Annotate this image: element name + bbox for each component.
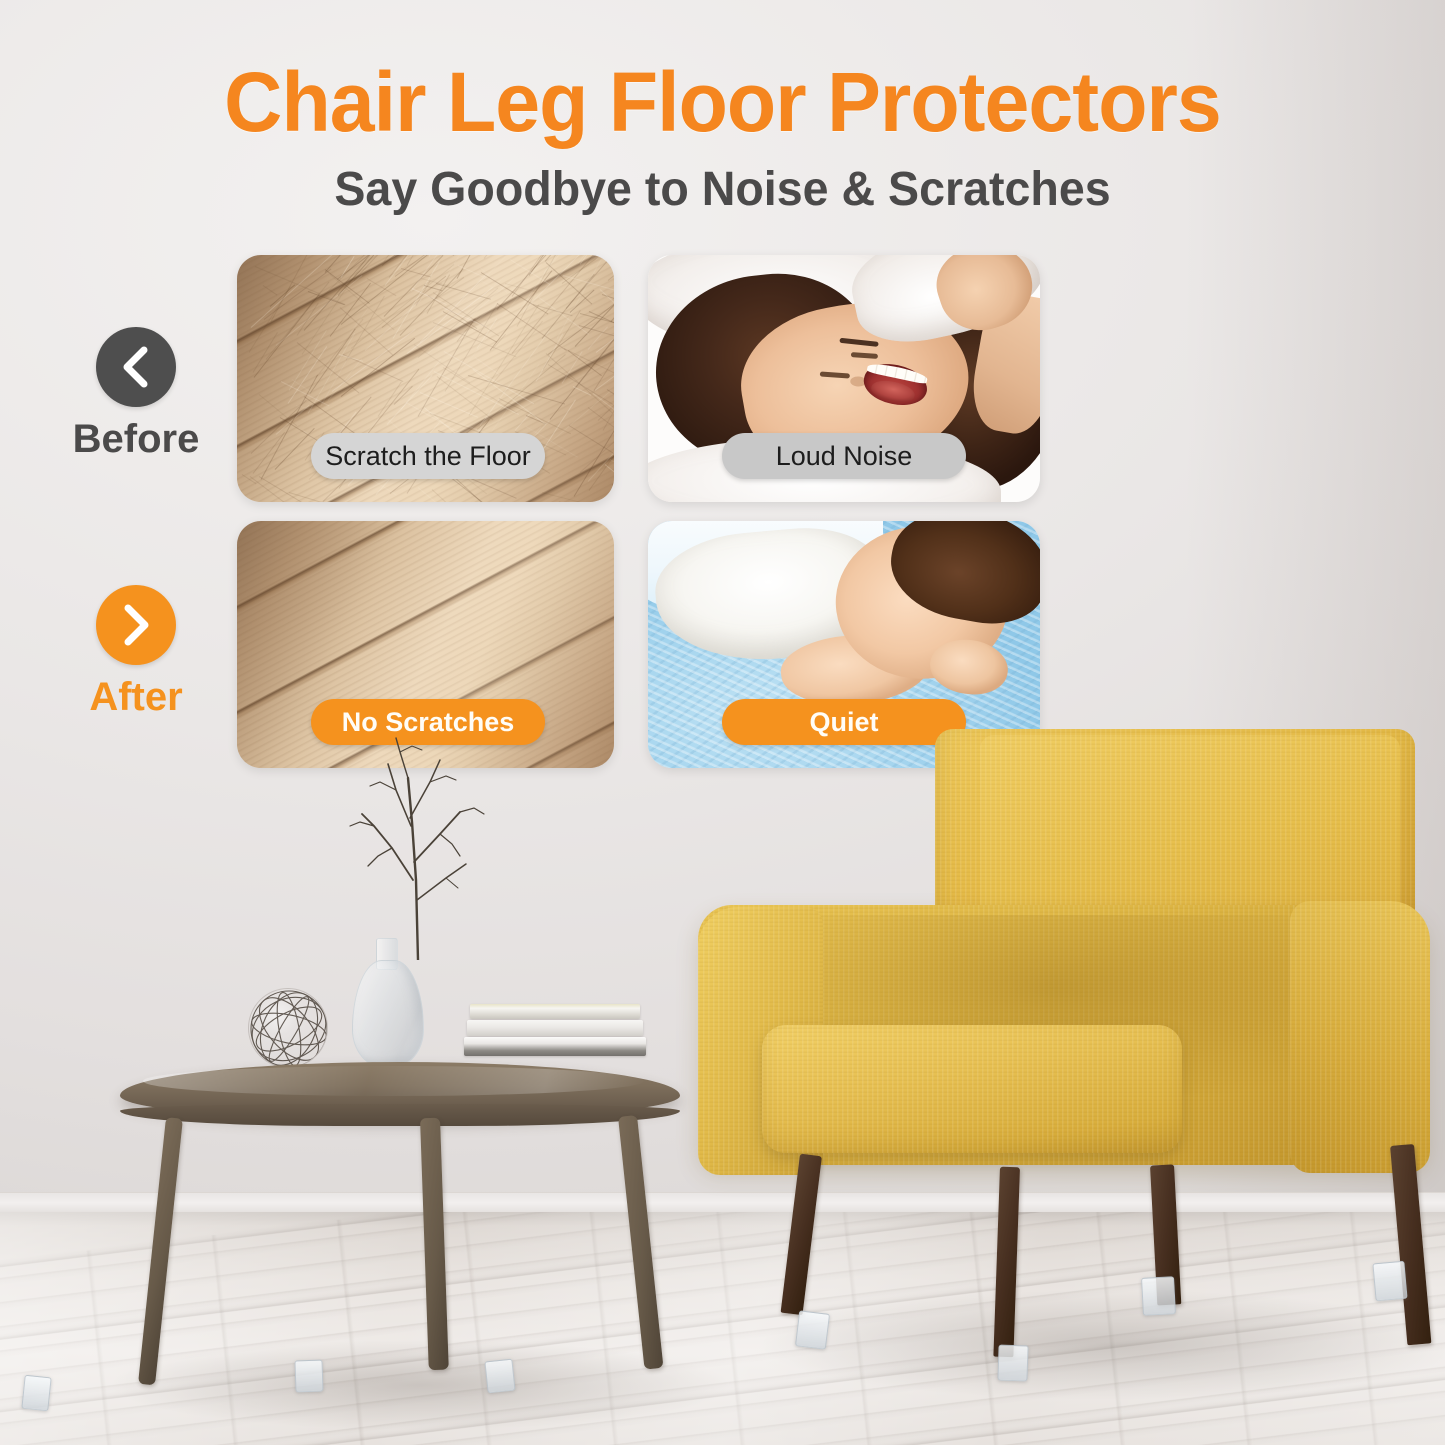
before-badge-circle xyxy=(96,327,176,407)
chair-seat-cushion xyxy=(762,1025,1182,1153)
decorative-branches xyxy=(300,730,530,960)
floor-protector-cap-chair-back-right xyxy=(1372,1261,1407,1302)
table-leg-left xyxy=(138,1117,183,1385)
eye-left xyxy=(819,372,849,379)
fabric-texture xyxy=(762,1025,1182,1153)
caption-pill-loud-noise: Loud Noise xyxy=(722,433,966,479)
eye-right xyxy=(850,352,878,359)
chevron-left-icon xyxy=(119,345,153,389)
tongue xyxy=(869,379,916,407)
chevron-right-icon xyxy=(119,603,153,647)
coffee-table xyxy=(120,1000,690,1420)
stack-of-books xyxy=(470,1004,650,1064)
chair-arm-right xyxy=(1290,901,1430,1173)
caption-text: Scratch the Floor xyxy=(325,443,531,470)
before-label: Before xyxy=(56,417,216,462)
panel-loud-noise: Loud Noise xyxy=(648,255,1040,502)
floor-protector-cap-chair-front-right xyxy=(997,1344,1028,1381)
floor-protector-cap-chair-front-left xyxy=(795,1310,830,1350)
floor-protector-cap-table-right xyxy=(484,1359,515,1394)
table-leg-right xyxy=(618,1115,663,1370)
before-badge: Before xyxy=(56,327,216,462)
product-infographic: Chair Leg Floor Protectors Say Goodbye t… xyxy=(0,0,1445,1445)
open-mouth xyxy=(860,360,930,411)
table-leg-middle xyxy=(420,1118,449,1371)
panel-scratch-the-floor: Scratch the Floor xyxy=(237,255,614,502)
book-middle xyxy=(467,1020,643,1036)
page-subtitle: Say Goodbye to Noise & Scratches xyxy=(22,166,1424,214)
table-edge xyxy=(120,1104,680,1126)
fabric-texture xyxy=(1290,901,1430,1173)
eyebrow xyxy=(839,339,878,348)
book-top xyxy=(470,1004,640,1019)
after-badge-circle xyxy=(96,585,176,665)
wire-decor-ball xyxy=(248,988,328,1068)
book-bottom xyxy=(464,1037,646,1056)
floor-protector-cap-table-left xyxy=(21,1375,51,1412)
floor-protector-cap-table-middle xyxy=(294,1360,323,1393)
glass-vase xyxy=(352,960,424,1068)
after-badge: After xyxy=(56,585,216,720)
after-label: After xyxy=(56,675,216,720)
caption-text: Loud Noise xyxy=(776,443,913,470)
header-block: Chair Leg Floor Protectors Say Goodbye t… xyxy=(0,0,1445,214)
page-title: Chair Leg Floor Protectors xyxy=(29,60,1416,144)
yellow-armchair xyxy=(690,715,1445,1275)
floor-protector-cap-chair-back-left xyxy=(1141,1276,1176,1316)
caption-pill-scratch-the-floor: Scratch the Floor xyxy=(311,433,545,479)
table-top-gloss xyxy=(143,1066,645,1096)
